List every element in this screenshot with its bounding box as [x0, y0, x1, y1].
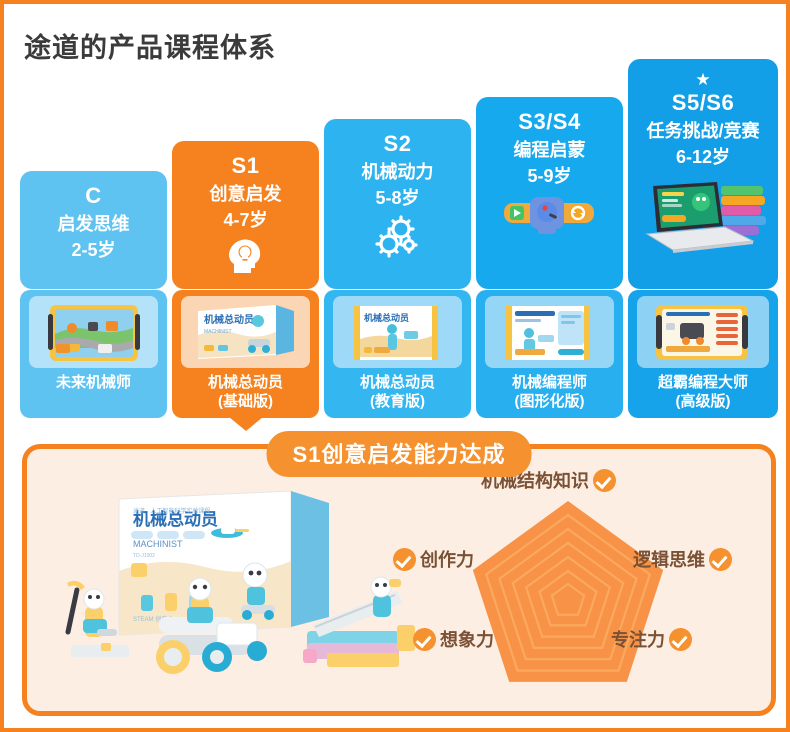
- stage-subtitle: 创意启发: [172, 181, 319, 207]
- svg-text:机械总动员: 机械总动员: [364, 312, 409, 323]
- stage-subtitle: 任务挑战/竞赛: [628, 118, 778, 144]
- product-name: 机械总动员 (教育版): [324, 373, 471, 411]
- head-lightbulb-icon: [172, 237, 319, 275]
- radar-axis-label-4: 创作力: [393, 546, 474, 572]
- svg-text:MACHINIST: MACHINIST: [133, 539, 183, 549]
- stage-age: 4-7岁: [172, 207, 319, 233]
- stage-card-c[interactable]: C 启发思维 2-5岁: [20, 171, 167, 289]
- check-circle-icon: [413, 628, 436, 651]
- svg-text:MACHINIST: MACHINIST: [204, 329, 232, 335]
- stage-subtitle: 机械动力: [324, 159, 471, 185]
- selected-arrow-icon: [229, 417, 263, 431]
- check-circle-icon: [669, 628, 692, 651]
- scratch-blocks-icon: [476, 193, 623, 237]
- product-box-super-coder: [637, 296, 769, 368]
- page-root: 途道的产品课程体系 C 启发思维 2-5岁 S1 创意启发 4-7岁: [0, 0, 790, 732]
- stage-age: 5-8岁: [324, 185, 471, 211]
- radar-label-text: 创作力: [420, 546, 474, 572]
- product-box-machinist-coder: [485, 296, 614, 368]
- radar-label-text: 逻辑思维: [633, 546, 705, 572]
- radar-axis-label-1: 逻辑思维: [633, 546, 732, 572]
- stage-card-s3-s4[interactable]: S3/S4 编程启蒙 5-9岁: [476, 97, 623, 289]
- stage-card-s2[interactable]: S2 机械动力 5-8岁: [324, 119, 471, 289]
- svg-text:TD-J1002: TD-J1002: [133, 553, 155, 559]
- gears-icon: [324, 215, 471, 259]
- product-name: 机械总动员 (基础版): [172, 373, 319, 411]
- stage-code: C: [20, 181, 167, 211]
- star-icon: ★: [628, 71, 778, 89]
- stage-age: 6-12岁: [628, 144, 778, 170]
- product-card-future-machinist[interactable]: 未来机械师: [20, 290, 167, 418]
- stage-age: 2-5岁: [20, 237, 167, 263]
- panel-banner-title: S1创意启发能力达成: [267, 431, 532, 477]
- check-circle-icon: [393, 548, 416, 571]
- product-card-machinist-coder[interactable]: 机械编程师 (图形化版): [476, 290, 623, 418]
- radar-label-text: 专注力: [611, 626, 665, 652]
- stage-card-s5-s6[interactable]: ★ S5/S6 任务挑战/竞赛 6-12岁: [628, 59, 778, 289]
- product-name: 未来机械师: [20, 373, 167, 392]
- product-name: 超霸编程大师 (高级版): [628, 373, 778, 411]
- radar-axis-label-3: 想象力: [413, 626, 494, 652]
- product-name: 机械编程师 (图形化版): [476, 373, 623, 411]
- check-circle-icon: [709, 548, 732, 571]
- radar-axis-label-2: 专注力: [611, 626, 692, 652]
- product-card-machinist-edu[interactable]: 机械总动员 机械总动员 (教育版): [324, 290, 471, 418]
- svg-text:机械总动员: 机械总动员: [204, 313, 254, 326]
- stage-code: S5/S6: [628, 88, 778, 118]
- product-box-machinist-edu: 机械总动员: [333, 296, 462, 368]
- stage-age: 5-9岁: [476, 163, 623, 189]
- stage-code: S1: [172, 151, 319, 181]
- stage-subtitle: 启发思维: [20, 211, 167, 237]
- s1-ability-panel: S1创意启发能力达成 机械总动员 途道 · 人工智能科学实验课程 MACHINI…: [22, 444, 776, 716]
- product-card-machinist-basic[interactable]: 机械总动员 MACHINIST 机械总动员 (基础版): [172, 290, 319, 418]
- product-box-machinist-basic: 机械总动员 MACHINIST: [181, 296, 310, 368]
- stage-card-row: C 启发思维 2-5岁 S1 创意启发 4-7岁: [20, 59, 778, 289]
- check-circle-icon: [593, 469, 616, 492]
- stage-code: S2: [324, 129, 471, 159]
- stage-card-s1[interactable]: S1 创意启发 4-7岁: [172, 141, 319, 289]
- product-card-row: 未来机械师 机械总动员 MACHINIST: [20, 290, 778, 418]
- stage-code: S3/S4: [476, 107, 623, 137]
- radar-label-text: 想象力: [440, 626, 494, 652]
- s1-product-photo: 机械总动员 途道 · 人工智能科学实验课程 MACHINIST TD-J1002: [41, 467, 431, 705]
- laptop-coding-icon: [628, 178, 778, 254]
- product-card-super-coder[interactable]: 超霸编程大师 (高级版): [628, 290, 778, 418]
- stage-subtitle: 编程启蒙: [476, 137, 623, 163]
- svg-text:途道 · 人工智能科学实验课程: 途道 · 人工智能科学实验课程: [133, 507, 210, 515]
- product-box-future-machinist: [29, 296, 158, 368]
- radar-svg: [383, 463, 763, 709]
- ability-radar-chart: 机械结构知识 逻辑思维 专注力 想象力 创作力: [383, 463, 763, 709]
